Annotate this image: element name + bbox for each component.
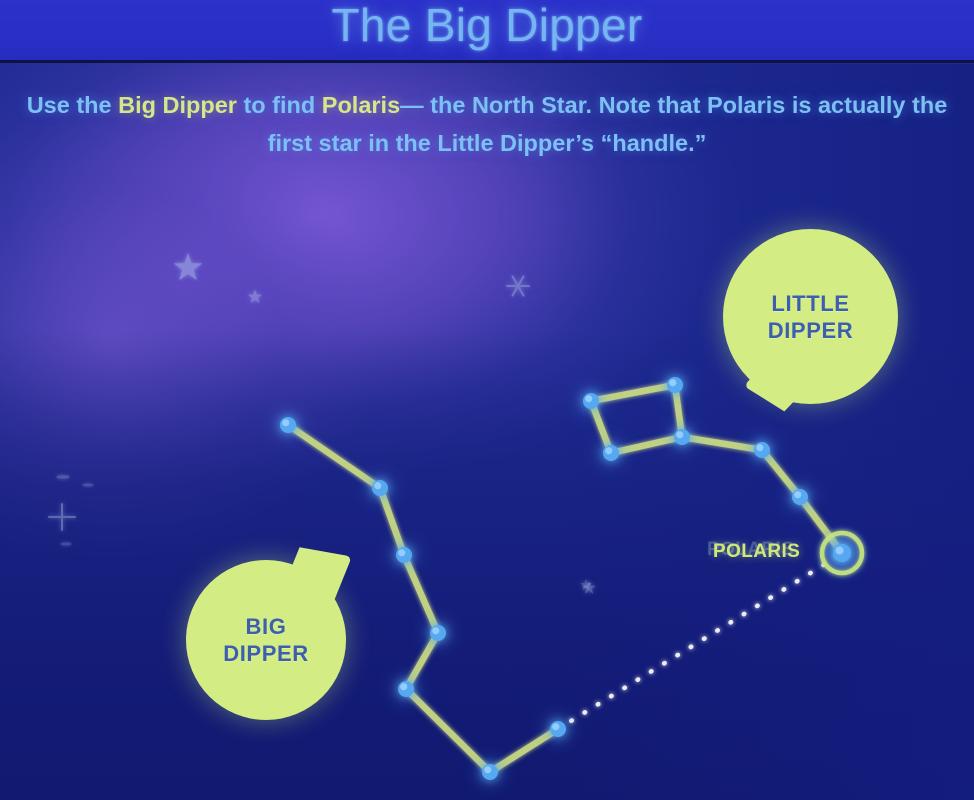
page-title: The Big Dipper [0,0,974,52]
star-highlight [398,549,405,556]
subtitle-run: to find [237,92,322,118]
decorative-stars-group [49,253,596,594]
star-highlight [794,491,801,498]
decorative-sparkle-icon [507,276,529,295]
constellation-stars-group [275,372,856,785]
subtitle-run: Use the [27,92,118,118]
decorative-star-icon [248,290,262,304]
star-highlight [835,546,843,554]
star-highlight [282,419,289,426]
callout-line-2: DIPPER [768,318,854,343]
polaris-label: POLARIS [713,541,800,563]
star-highlight [484,766,491,773]
star-highlight [605,447,612,454]
callout-line-1: BIG [246,614,287,639]
star-highlight [669,379,676,386]
constellation-line [288,425,380,488]
decorative-sparkle-icon [49,504,75,530]
star-highlight [374,482,381,489]
star-highlight [552,723,559,730]
decorative-dash-icon [83,483,94,486]
callout-little-dipper-label: LITTLE DIPPER [768,290,854,344]
callout-big-dipper[interactable]: BIG DIPPER [186,560,346,720]
callout-little-dipper[interactable]: LITTLE DIPPER [723,229,898,404]
callout-big-dipper-label: BIG DIPPER [223,613,309,667]
callout-line-1: LITTLE [771,291,849,316]
subtitle-highlight: Polaris [322,92,400,118]
star-highlight [400,683,407,690]
subtitle-highlight: Big Dipper [118,92,237,118]
star-highlight [585,395,592,402]
subtitle-text: Use the Big Dipper to find Polaris— the … [0,86,974,162]
decorative-star-icon [174,253,203,280]
title-bar: The Big Dipper [0,0,974,63]
star-highlight [676,431,683,438]
decorative-dash-icon [61,542,72,545]
star-highlight [432,627,439,634]
slide-canvas: The Big Dipper Use the Big Dipper to fin… [0,0,974,800]
pointer-line-group [558,556,838,729]
callout-line-2: DIPPER [223,641,309,666]
decorative-dash-icon [57,475,70,479]
star-highlight [756,444,763,451]
pointer-dotted-line [558,556,838,729]
constellation-line [406,689,490,772]
